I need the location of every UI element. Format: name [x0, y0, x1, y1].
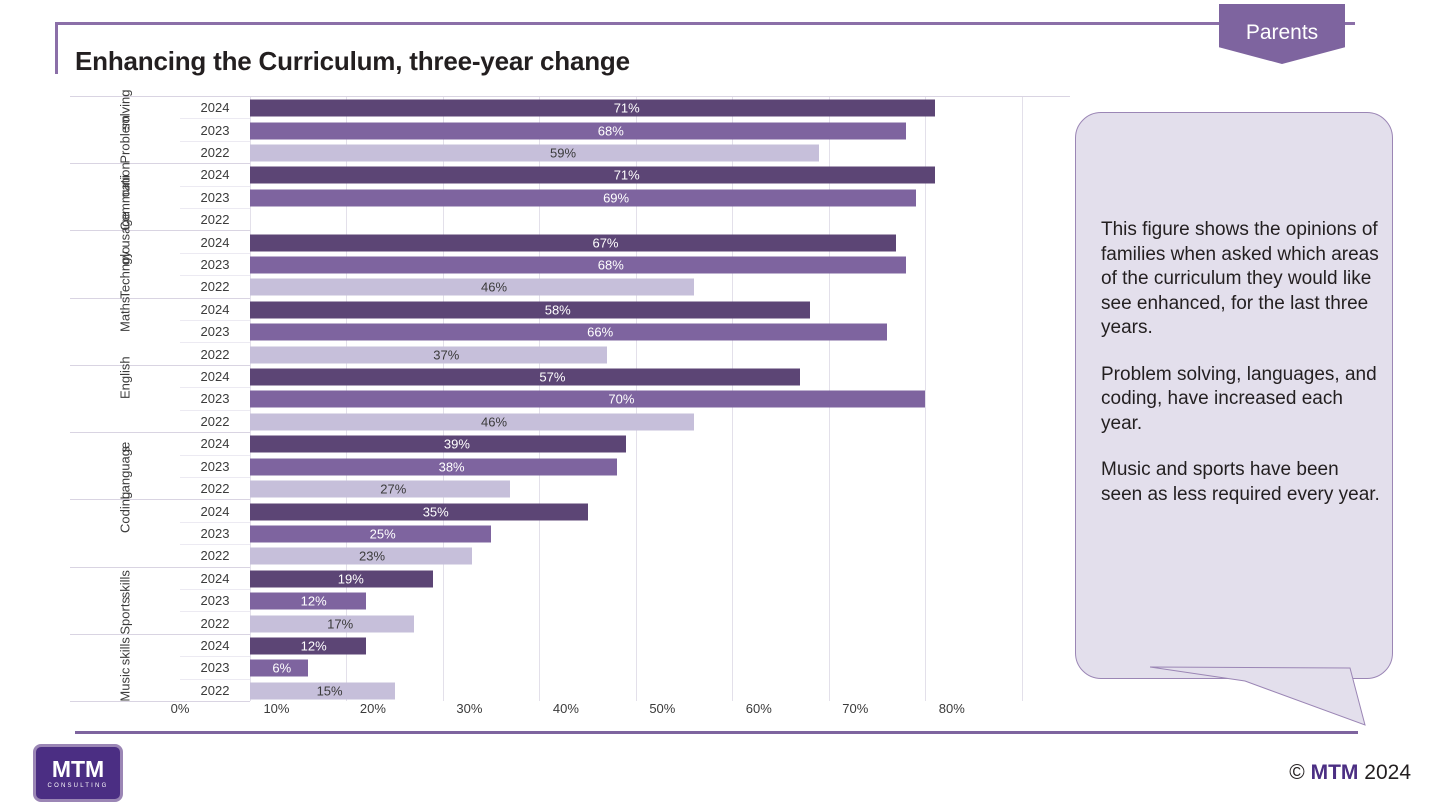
plot-area: 71%68%59%71%69%67%68%46%58%66%37%57%70%4…	[250, 96, 1070, 701]
year-label: 2023	[180, 590, 250, 612]
x-axis-ticks: 0%10%20%30%40%50%60%70%80%	[180, 701, 1000, 727]
bar-2022	[250, 346, 607, 363]
x-tick-label: 20%	[360, 701, 386, 716]
year-label: 2022	[180, 343, 250, 365]
year-label: 2022	[180, 680, 250, 702]
bar-row: 57%	[250, 366, 1070, 388]
callout-paragraph: Problem solving, languages, and coding, …	[1101, 363, 1381, 437]
bar-value-label: 23%	[359, 549, 385, 564]
year-label: 2024	[180, 299, 250, 321]
year-label: 2023	[180, 254, 250, 276]
bar-value-label: 58%	[545, 302, 571, 317]
bar-2024	[250, 234, 896, 251]
category-label-cell: Technology usage	[70, 231, 180, 298]
category-label-line: gy usage	[118, 231, 133, 265]
category-label-cell: English	[70, 366, 180, 433]
bar-value-label: 46%	[481, 414, 507, 429]
bar-2024	[250, 436, 626, 453]
year-axis-column: 2024202320222024202320222024202320222024…	[180, 96, 250, 701]
bar-value-label: 39%	[444, 437, 470, 452]
bar-2023	[250, 257, 906, 274]
bar-row: 15%	[250, 680, 1070, 702]
bar-row: 35%	[250, 500, 1070, 522]
bar-row	[250, 209, 1070, 231]
bar-row: 17%	[250, 612, 1070, 634]
bar-value-label: 38%	[439, 459, 465, 474]
year-label: 2024	[180, 635, 250, 657]
bar-value-label: 12%	[301, 594, 327, 609]
category-label: English	[118, 365, 133, 432]
bar-row: 69%	[250, 187, 1070, 209]
bar-row: 67%	[250, 231, 1070, 253]
category-label: Musicskills	[118, 634, 133, 701]
bar-value-label: 37%	[433, 347, 459, 362]
category-label: Coding	[118, 500, 133, 567]
year-label: 2022	[180, 612, 250, 634]
bar-2024	[250, 167, 935, 184]
copyright: © MTM 2024	[1289, 761, 1411, 785]
year-label: 2023	[180, 187, 250, 209]
bar-row: 27%	[250, 478, 1070, 500]
bar-value-label: 59%	[550, 146, 576, 161]
bar-row: 46%	[250, 276, 1070, 298]
bar-value-label: 25%	[370, 526, 396, 541]
category-label: Sportsskills	[118, 567, 133, 634]
year-label: 2022	[180, 276, 250, 298]
bar-value-label: 46%	[481, 280, 507, 295]
year-label: 2023	[180, 321, 250, 343]
category-label-cell: Languages	[70, 433, 180, 500]
bar-value-label: 35%	[423, 504, 449, 519]
bar-value-label: 69%	[603, 190, 629, 205]
bar-2023	[250, 391, 925, 408]
category-label-line: skills	[118, 567, 133, 601]
year-label: 2023	[180, 388, 250, 410]
bar-row: 6%	[250, 657, 1070, 679]
category-label: Problemsolving	[118, 97, 133, 164]
bar-value-label: 66%	[587, 325, 613, 340]
bar-row: 66%	[250, 321, 1070, 343]
category-label-line: English	[118, 365, 133, 399]
bar-value-label: 68%	[598, 123, 624, 138]
year-label: 2024	[180, 97, 250, 119]
bar-row: 68%	[250, 119, 1070, 141]
x-tick-label: 40%	[553, 701, 579, 716]
category-label-line	[118, 533, 133, 567]
bar-2023	[250, 122, 906, 139]
x-tick-label: 80%	[939, 701, 965, 716]
year-label: 2022	[180, 142, 250, 164]
year-label: 2024	[180, 366, 250, 388]
bar-row: 23%	[250, 545, 1070, 567]
bar-chart: ProblemsolvingCommunicationTechnology us…	[70, 96, 1070, 701]
category-label-line: Maths	[118, 298, 133, 332]
audience-badge-parents: Parents	[1219, 4, 1345, 64]
bar-row: 38%	[250, 456, 1070, 478]
bar-value-label: 17%	[327, 616, 353, 631]
x-tick-label: 0%	[171, 701, 190, 716]
bar-value-label: 15%	[317, 683, 343, 698]
category-label-line: Coding	[118, 500, 133, 534]
bar-value-label: 70%	[608, 392, 634, 407]
bar-2024	[250, 100, 935, 117]
year-label: 2024	[180, 164, 250, 186]
year-label: 2023	[180, 657, 250, 679]
bar-2023	[250, 324, 887, 341]
bar-row: 58%	[250, 299, 1070, 321]
bar-2022	[250, 413, 694, 430]
year-label: 2022	[180, 545, 250, 567]
bar-value-label: 12%	[301, 638, 327, 653]
bar-value-label: 6%	[272, 661, 291, 676]
category-label-cell: Musicskills	[70, 635, 180, 702]
category-label-line: Problem	[118, 130, 133, 164]
category-label-cell: Coding	[70, 500, 180, 567]
bar-row: 68%	[250, 254, 1070, 276]
bar-value-label: 71%	[614, 168, 640, 183]
page-title: Enhancing the Curriculum, three-year cha…	[75, 46, 630, 77]
category-axis-column: ProblemsolvingCommunicationTechnology us…	[70, 96, 180, 701]
category-label-line: s	[118, 433, 133, 467]
bar-row: 39%	[250, 433, 1070, 455]
year-label: 2022	[180, 209, 250, 231]
year-label: 2024	[180, 231, 250, 253]
bar-row: 46%	[250, 411, 1070, 433]
bar-2024	[250, 301, 810, 318]
bar-value-label: 19%	[338, 571, 364, 586]
year-label: 2022	[180, 411, 250, 433]
bar-row: 71%	[250, 97, 1070, 119]
bar-value-label: 67%	[592, 235, 618, 250]
category-label-line: solving	[118, 97, 133, 131]
x-tick-label: 10%	[263, 701, 289, 716]
category-label-line: Technolo	[118, 265, 133, 299]
category-label: Technology usage	[118, 231, 133, 298]
year-label: 2022	[180, 478, 250, 500]
x-tick-label: 70%	[842, 701, 868, 716]
category-label-line: cation	[118, 164, 133, 198]
bar-value-label: 68%	[598, 258, 624, 273]
x-tick-label: 60%	[746, 701, 772, 716]
category-label-line: Music	[118, 668, 133, 702]
bar-2022	[250, 279, 694, 296]
category-label-line: Sports	[118, 601, 133, 635]
bar-2024	[250, 369, 800, 386]
callout-tail-icon	[1150, 665, 1380, 732]
bar-row: 37%	[250, 343, 1070, 365]
category-label: Maths	[118, 298, 133, 365]
year-label: 2024	[180, 433, 250, 455]
year-label: 2023	[180, 523, 250, 545]
copyright-brand: MTM	[1311, 761, 1359, 784]
callout-text: This figure shows the opinions of famili…	[1101, 218, 1381, 507]
bar-row: 70%	[250, 388, 1070, 410]
x-tick-label: 50%	[649, 701, 675, 716]
bar-row: 19%	[250, 568, 1070, 590]
year-label: 2024	[180, 568, 250, 590]
x-tick-label: 30%	[456, 701, 482, 716]
category-label-line	[118, 399, 133, 433]
mtm-logo: MTM CONSULTING	[33, 744, 123, 802]
bar-row: 12%	[250, 590, 1070, 612]
bar-2023	[250, 189, 916, 206]
callout-paragraph: This figure shows the opinions of famili…	[1101, 218, 1381, 341]
audience-badge-label: Parents	[1246, 21, 1318, 45]
bar-value-label: 27%	[380, 482, 406, 497]
copyright-symbol: ©	[1289, 761, 1304, 784]
bar-value-label: 57%	[539, 370, 565, 385]
bar-row: 25%	[250, 523, 1070, 545]
bar-2023	[250, 458, 617, 475]
bar-row: 59%	[250, 142, 1070, 164]
category-label-line: skills	[118, 634, 133, 668]
bar-2024	[250, 503, 588, 520]
year-label: 2024	[180, 500, 250, 522]
year-label: 2023	[180, 119, 250, 141]
bar-2022	[250, 145, 819, 162]
copyright-year: 2024	[1364, 761, 1411, 784]
bar-row: 12%	[250, 635, 1070, 657]
callout-paragraph: Music and sports have been seen as less …	[1101, 458, 1381, 507]
bar-row: 71%	[250, 164, 1070, 186]
category-label-cell: Problemsolving	[70, 97, 180, 164]
category-label: Languages	[118, 433, 133, 500]
bar-value-label: 71%	[614, 101, 640, 116]
logo-subtitle: CONSULTING	[48, 783, 109, 789]
year-label: 2023	[180, 456, 250, 478]
category-label-cell: Sportsskills	[70, 568, 180, 635]
logo-wordmark: MTM	[52, 758, 104, 780]
